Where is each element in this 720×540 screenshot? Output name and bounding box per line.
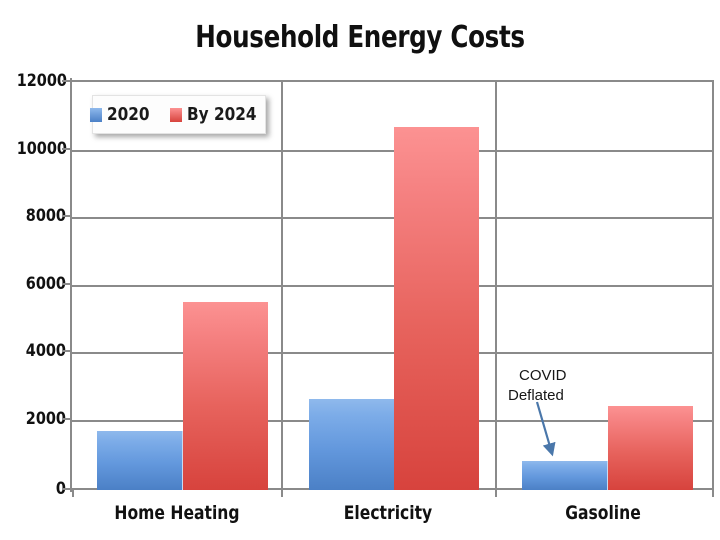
x-axis-tick-right [712,488,714,497]
bar-gasoline-2020 [522,461,608,490]
gridline-6000 [72,285,712,287]
legend-swatch-icon-2024 [170,108,182,122]
x-axis-label-gasoline: Gasoline [533,502,672,524]
bar-chart: Household Energy Costs 12000 10000 8000 … [0,0,720,540]
y-axis-label-6000: 6000 [17,274,66,294]
bar-home-heating-2024 [183,302,268,490]
x-axis-tick-2 [495,488,497,497]
gridline-10000 [72,150,712,152]
x-axis-tick-1 [281,488,283,497]
chart-legend: 2020 By 2024 [92,95,266,134]
plot-area [72,80,714,490]
annotation-line-2: Deflated [508,386,567,406]
x-axis-label-electricity: Electricity [318,502,457,524]
annotation-line-1: COVID [508,366,567,386]
gridline-8000 [72,217,712,219]
x-axis-label-home-heating: Home Heating [107,502,246,524]
legend-swatch-icon-2020 [90,108,102,122]
bar-gasoline-2024 [608,406,693,490]
legend-entry-2024: By 2024 [170,104,269,125]
chart-title: Household Energy Costs [65,20,655,55]
annotation-covid-deflated: COVID Deflated [508,366,567,406]
category-separator-1 [281,82,283,490]
y-axis-label-0: 0 [17,479,66,499]
bar-home-heating-2020 [97,431,183,490]
gridline-4000 [72,352,712,354]
legend-entry-2020: 2020 [90,104,157,125]
bar-electricity-2020 [309,399,395,490]
y-axis-label-2000: 2000 [17,409,66,429]
legend-label-2020: 2020 [107,104,150,125]
y-axis-label-10000: 10000 [17,139,66,159]
x-axis-tick-left [72,488,74,497]
legend-label-2024: By 2024 [187,104,257,125]
category-separator-2 [495,82,497,490]
y-axis-label-12000: 12000 [17,71,66,91]
y-axis-label-8000: 8000 [17,206,66,226]
y-axis-label-4000: 4000 [17,341,66,361]
bar-electricity-2024 [394,127,479,490]
